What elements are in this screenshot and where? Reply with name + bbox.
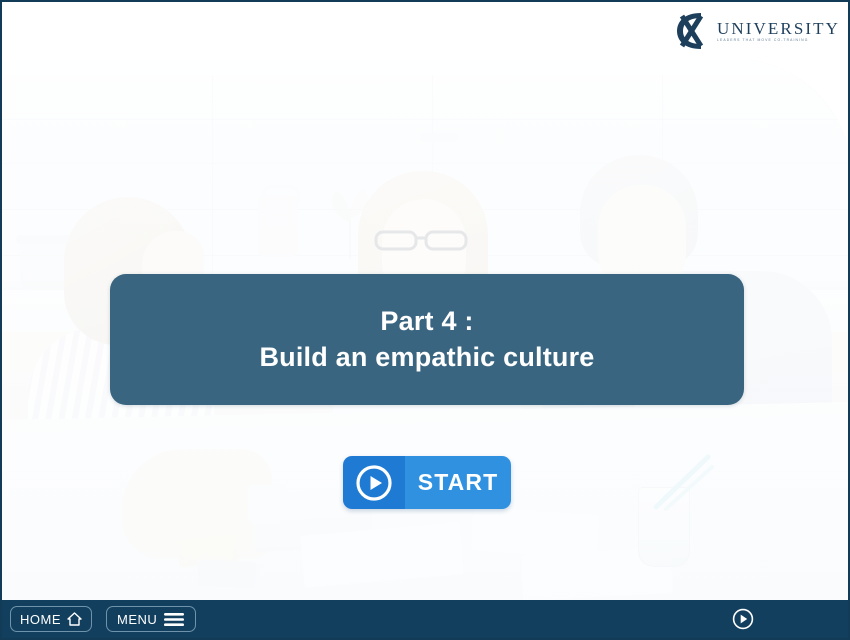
slide-stage: UNIVERSITY LEADERS THAT MOVE CO-TRAINING… [0,0,850,640]
start-button-icon-area[interactable] [343,456,405,509]
logo-tagline: LEADERS THAT MOVE CO-TRAINING [717,39,840,42]
header-bar: UNIVERSITY LEADERS THAT MOVE CO-TRAINING [2,2,850,60]
menu-button-label: MENU [117,612,157,627]
hamburger-icon [163,612,185,627]
start-button[interactable]: START [343,456,511,509]
play-circle-icon [355,464,393,502]
start-button-label-area[interactable]: START [405,456,511,509]
slide-title-card: Part 4 : Build an empathic culture [110,274,744,405]
home-button-label: HOME [20,612,61,627]
menu-button[interactable]: MENU [106,606,196,632]
x-monogram-icon [671,10,713,52]
logo-name: UNIVERSITY [717,20,840,37]
start-button-label: START [418,469,498,496]
play-button[interactable] [732,608,754,630]
title-line-1: Part 4 : [380,304,473,340]
play-circle-outline-icon [732,608,754,630]
home-button[interactable]: HOME [10,606,92,632]
home-icon [67,612,82,626]
bottom-toolbar: HOME MENU [2,600,850,638]
university-logo: UNIVERSITY LEADERS THAT MOVE CO-TRAINING [671,8,840,54]
title-line-2: Build an empathic culture [259,340,594,376]
